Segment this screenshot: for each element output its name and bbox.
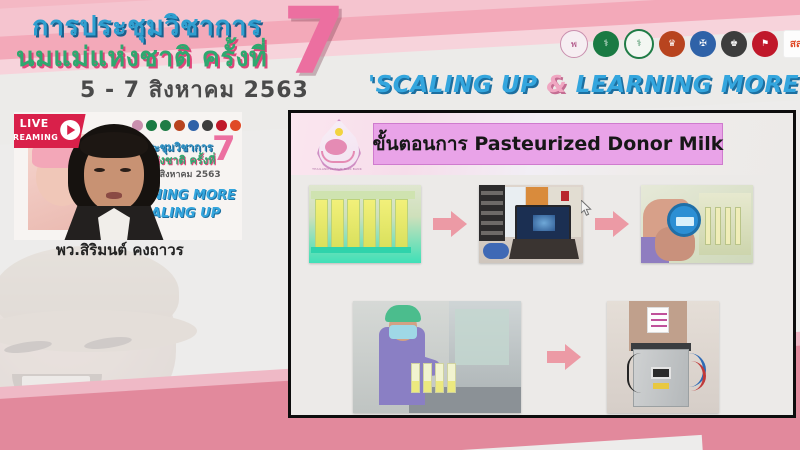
edition-number: 7 bbox=[282, 0, 346, 88]
live-streaming-badge: LIVE STREAMING bbox=[14, 114, 86, 148]
conference-header: การประชุมวิชาการ นมแม่แห่งชาติ ครั้งที่ … bbox=[0, 0, 800, 105]
photo-nurse-laminar-hood bbox=[353, 301, 521, 413]
live-video-feed[interactable]: การประชุมวิชาการ นมแม่แห่งชาติ ครั้งที่ … bbox=[14, 112, 242, 240]
slogan-part-2: LEARNING MORE' bbox=[567, 72, 800, 98]
conference-slogan: 'SCALING UP & LEARNING MORE' bbox=[368, 72, 800, 98]
photo-laptop-data-entry bbox=[479, 185, 583, 263]
royal-college-logo: ♛ bbox=[659, 31, 685, 57]
presentation-slide-panel[interactable]: THAILAND HUMAN MILK BANK ขั้นตอนการ Past… bbox=[288, 110, 796, 418]
process-row-bottom bbox=[353, 301, 719, 413]
play-icon bbox=[60, 120, 80, 140]
slide-title-box: ขั้นตอนการ Pasteurized Donor Milk bbox=[373, 123, 723, 165]
process-arrow-1 bbox=[433, 211, 467, 237]
pediatric-society-logo: ♚ bbox=[721, 31, 747, 57]
live-badge-label: LIVE bbox=[20, 117, 49, 130]
sponsor-logo-strip: พ ⚕ ⚕ ♛ ✠ ♚ ⚑ สสส bbox=[560, 26, 798, 62]
streaming-badge-label: STREAMING bbox=[14, 133, 58, 142]
process-arrow-3 bbox=[547, 344, 581, 370]
human-milk-bank-logo: THAILAND HUMAN MILK BANK bbox=[309, 119, 365, 177]
process-row-top bbox=[309, 185, 753, 263]
photo-temperature-probe bbox=[641, 185, 753, 263]
thai-breastfeeding-logo: ⚕ bbox=[593, 31, 619, 57]
royal-patronage-logo: พ bbox=[560, 30, 588, 58]
feed-poster-number: 7 bbox=[212, 132, 236, 166]
photo-pasteurizer-machine bbox=[607, 301, 719, 413]
ministry-of-public-health-logo: ⚕ bbox=[624, 29, 654, 59]
nursing-council-logo: ✠ bbox=[690, 31, 716, 57]
photo-milk-bottle-racks bbox=[309, 185, 421, 263]
process-arrow-2 bbox=[595, 211, 629, 237]
speaker-name-label: พว.สิริมนต์ คงถาวร bbox=[56, 238, 184, 262]
mouse-cursor bbox=[581, 200, 593, 217]
slogan-part-1: 'SCALING UP bbox=[368, 72, 546, 98]
slide-canvas: THAILAND HUMAN MILK BANK ขั้นตอนการ Past… bbox=[291, 113, 793, 415]
thai-health-logo: สสส bbox=[783, 30, 800, 58]
slide-title-text: ขั้นตอนการ Pasteurized Donor Milk bbox=[373, 129, 724, 159]
hospital-foundation-logo: ⚑ bbox=[752, 31, 778, 57]
slogan-ampersand: & bbox=[546, 72, 567, 98]
conference-date: 5 - 7 สิงหาคม 2563 bbox=[80, 72, 309, 107]
logo-caption: THAILAND HUMAN MILK BANK bbox=[309, 167, 365, 171]
slide-screenshot: การประชุมวิชาการ นมแม่แห่งชาติ ครั้งที่ … bbox=[0, 0, 800, 450]
